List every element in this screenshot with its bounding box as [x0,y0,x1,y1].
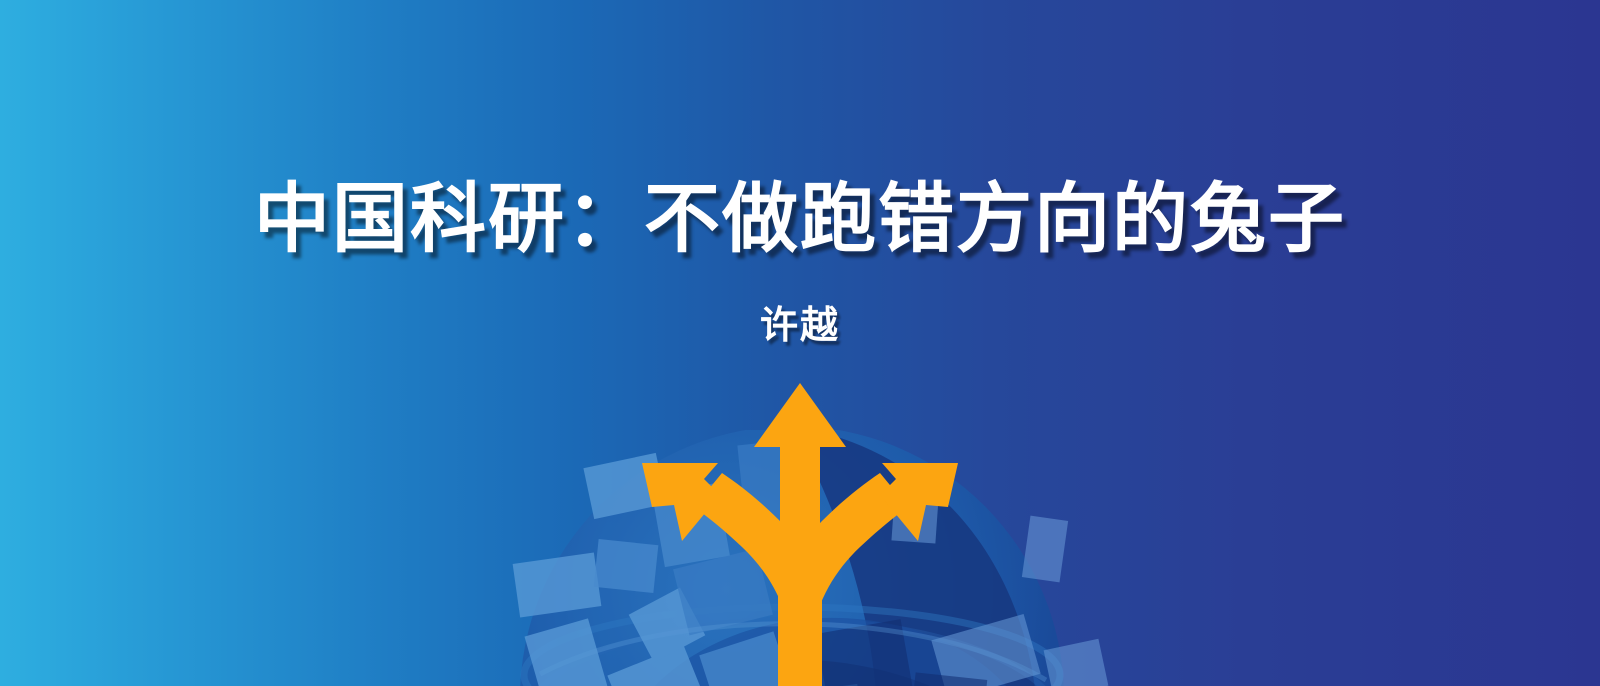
page-title: 中国科研：不做跑错方向的兔子 [0,180,1600,260]
slide-subtitle-author: 许越 [0,294,1600,349]
three-way-arrow-graphic [600,375,1000,686]
presentation-slide: 中国科研：不做跑错方向的兔子 许越 [0,0,1600,686]
